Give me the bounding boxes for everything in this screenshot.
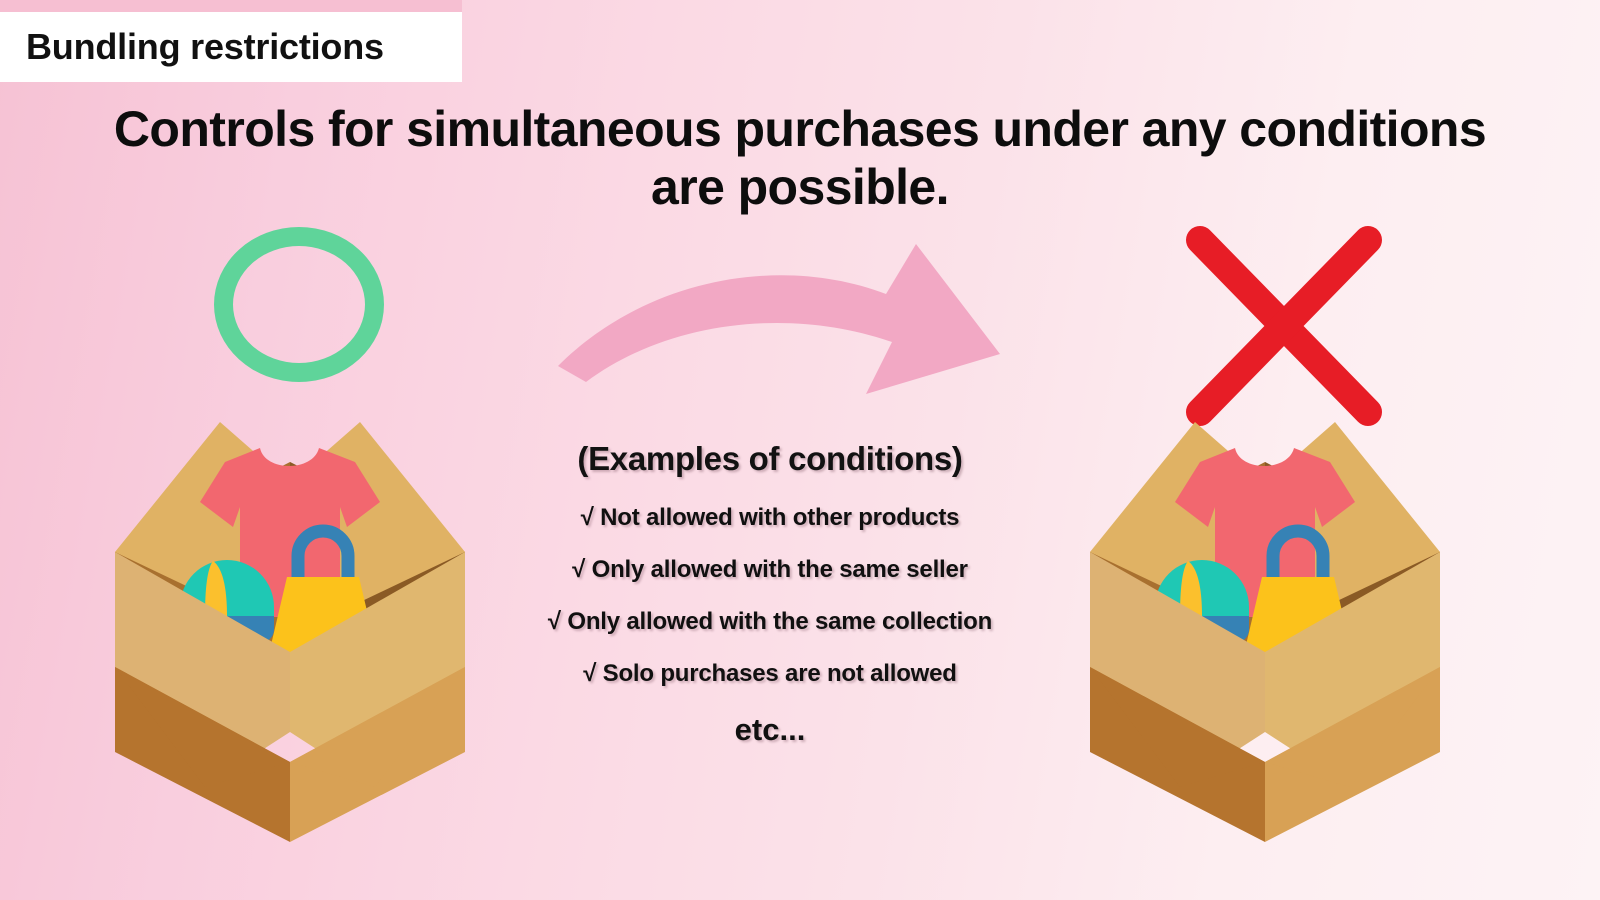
section-title-badge: Bundling restrictions — [0, 12, 462, 82]
product-box-left — [55, 402, 525, 842]
list-item: √ Not allowed with other products — [470, 504, 1070, 532]
cross-x-icon — [1180, 220, 1388, 432]
list-item: √ Only allowed with the same seller — [470, 556, 1070, 584]
section-title-text: Bundling restrictions — [26, 26, 384, 68]
list-item: √ Solo purchases are not allowed — [470, 660, 1070, 688]
product-box-right — [1030, 402, 1500, 842]
conditions-block: (Examples of conditions) √ Not allowed w… — [470, 440, 1070, 748]
page-title: Controls for simultaneous purchases unde… — [100, 100, 1500, 216]
conditions-list: √ Not allowed with other products √ Only… — [470, 504, 1070, 688]
conditions-etc: etc... — [470, 712, 1070, 748]
badge-top-strip — [0, 0, 462, 12]
circle-ok-icon — [214, 227, 384, 382]
list-item: √ Only allowed with the same collection — [470, 608, 1070, 636]
conditions-title: (Examples of conditions) — [470, 440, 1070, 478]
slide-canvas: Bundling restrictions Controls for simul… — [0, 0, 1600, 900]
curved-arrow-right-icon — [556, 236, 1002, 408]
